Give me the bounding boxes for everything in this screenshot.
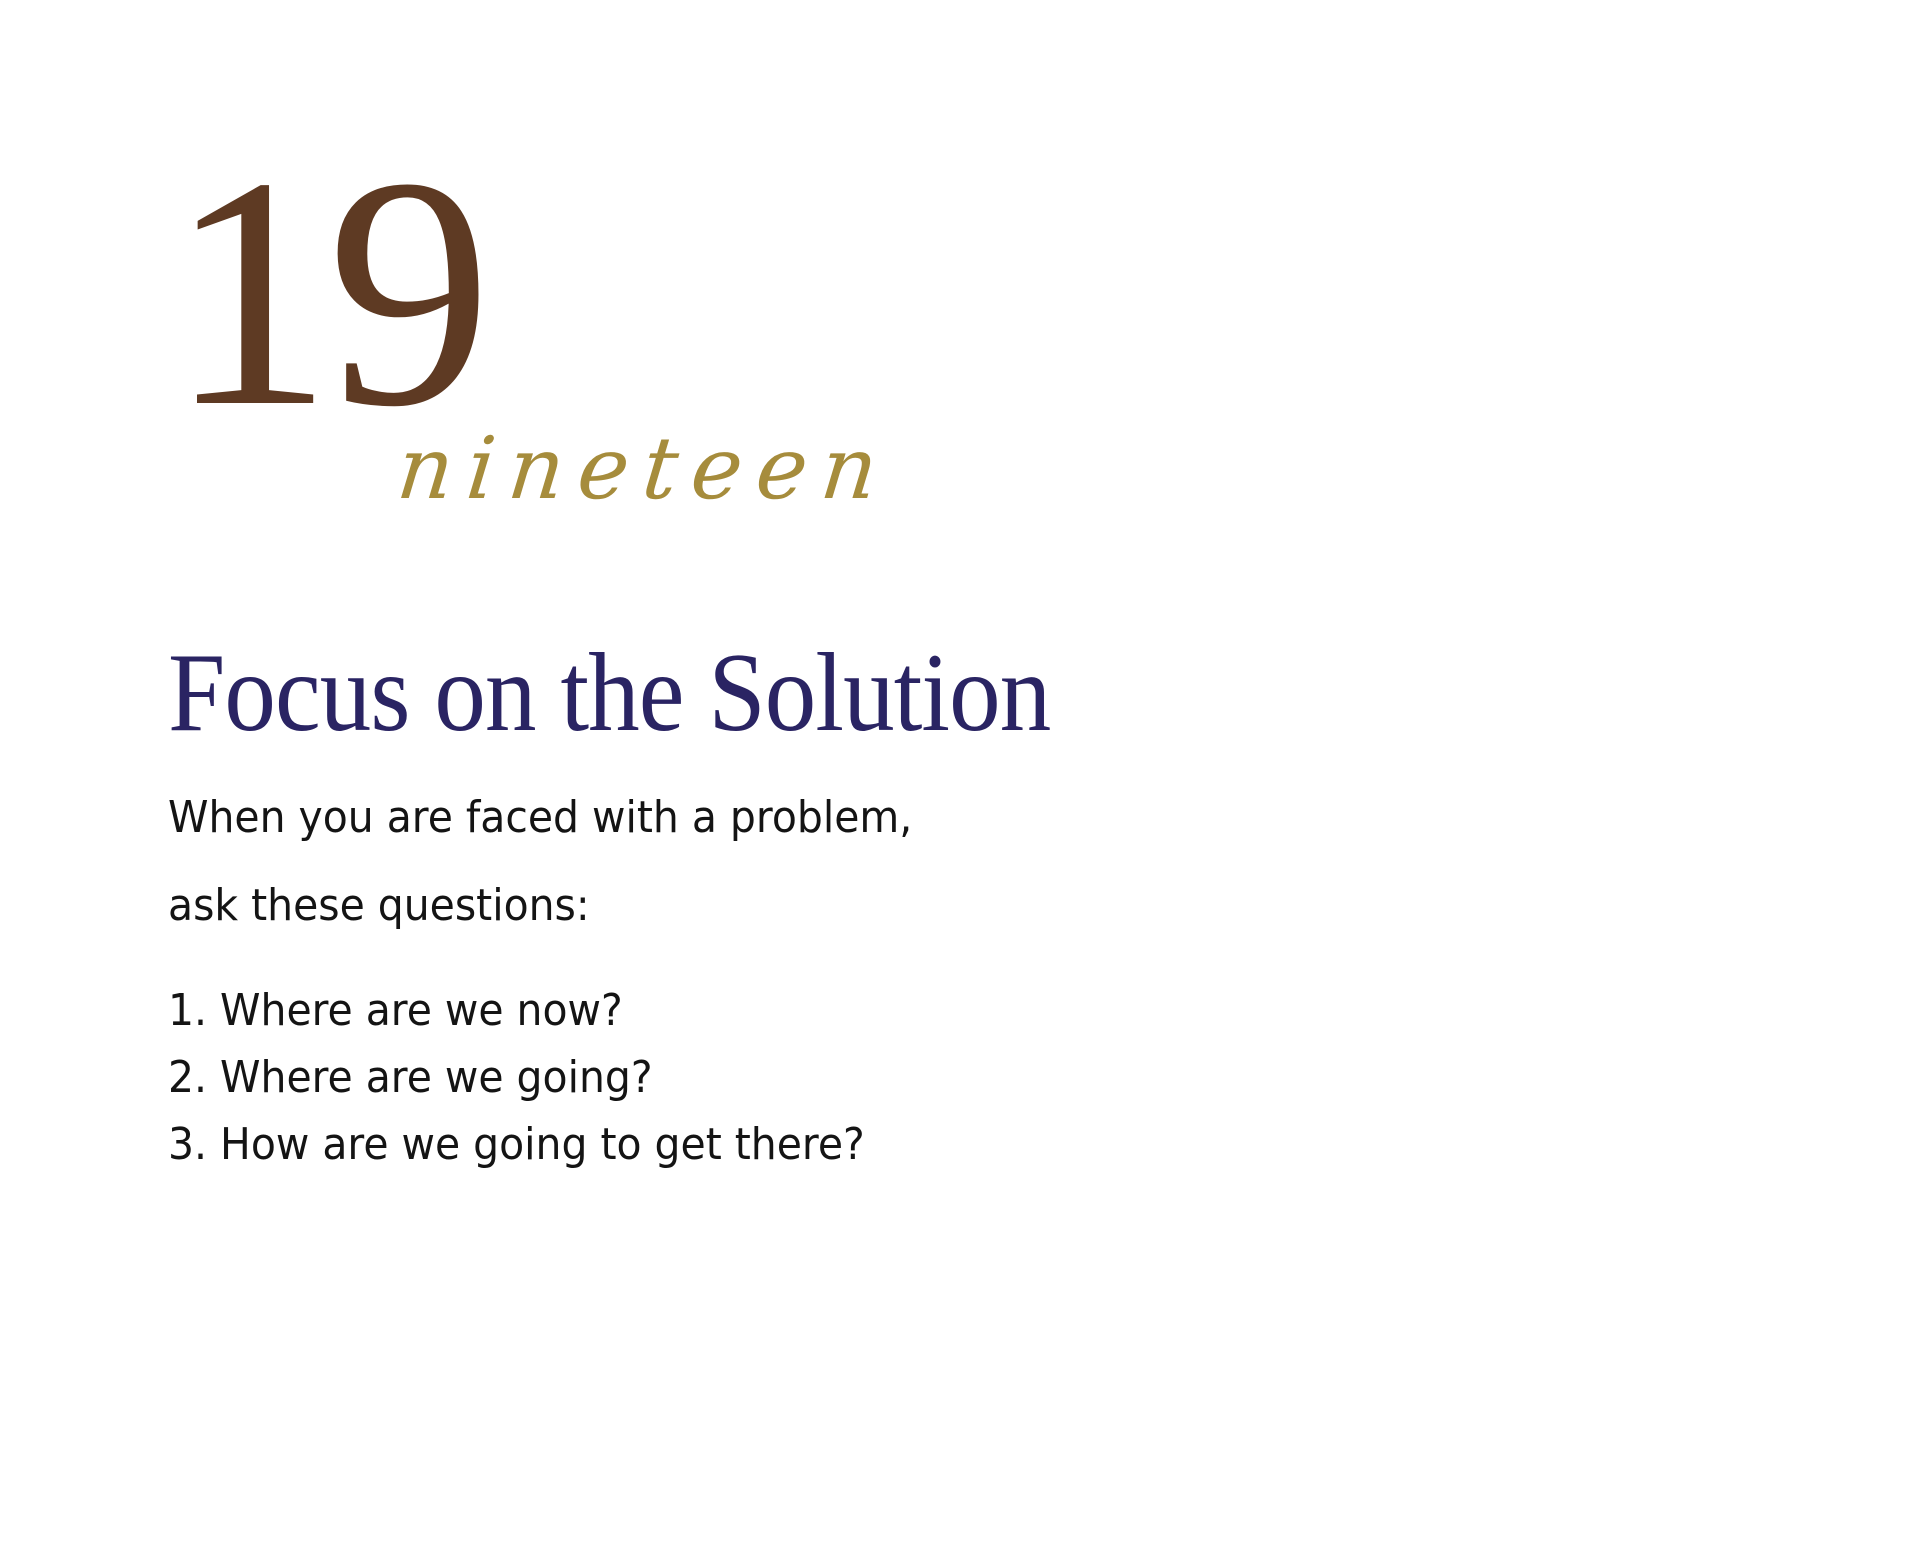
chapter-numeral-block: 19 nineteen <box>0 0 1920 560</box>
list-item: 3. How are we going to get there? <box>168 1112 865 1179</box>
lead-line-1: When you are faced with a problem, <box>168 796 1191 840</box>
list-item: 2. Where are we going? <box>168 1045 865 1112</box>
slide-canvas: 19 nineteen Focus on the Solution When y… <box>0 0 1920 1546</box>
page-title: Focus on the Solution <box>168 631 1050 756</box>
chapter-number-numeral: 19 <box>168 128 486 458</box>
lead-line-2: ask these questions: <box>168 884 1191 928</box>
question-list: 1. Where are we now? 2. Where are we goi… <box>168 978 917 1179</box>
chapter-number-word: nineteen <box>393 426 895 512</box>
lead-paragraph-group: When you are faced with a problem, ask t… <box>168 752 1268 928</box>
list-item: 1. Where are we now? <box>168 978 865 1045</box>
